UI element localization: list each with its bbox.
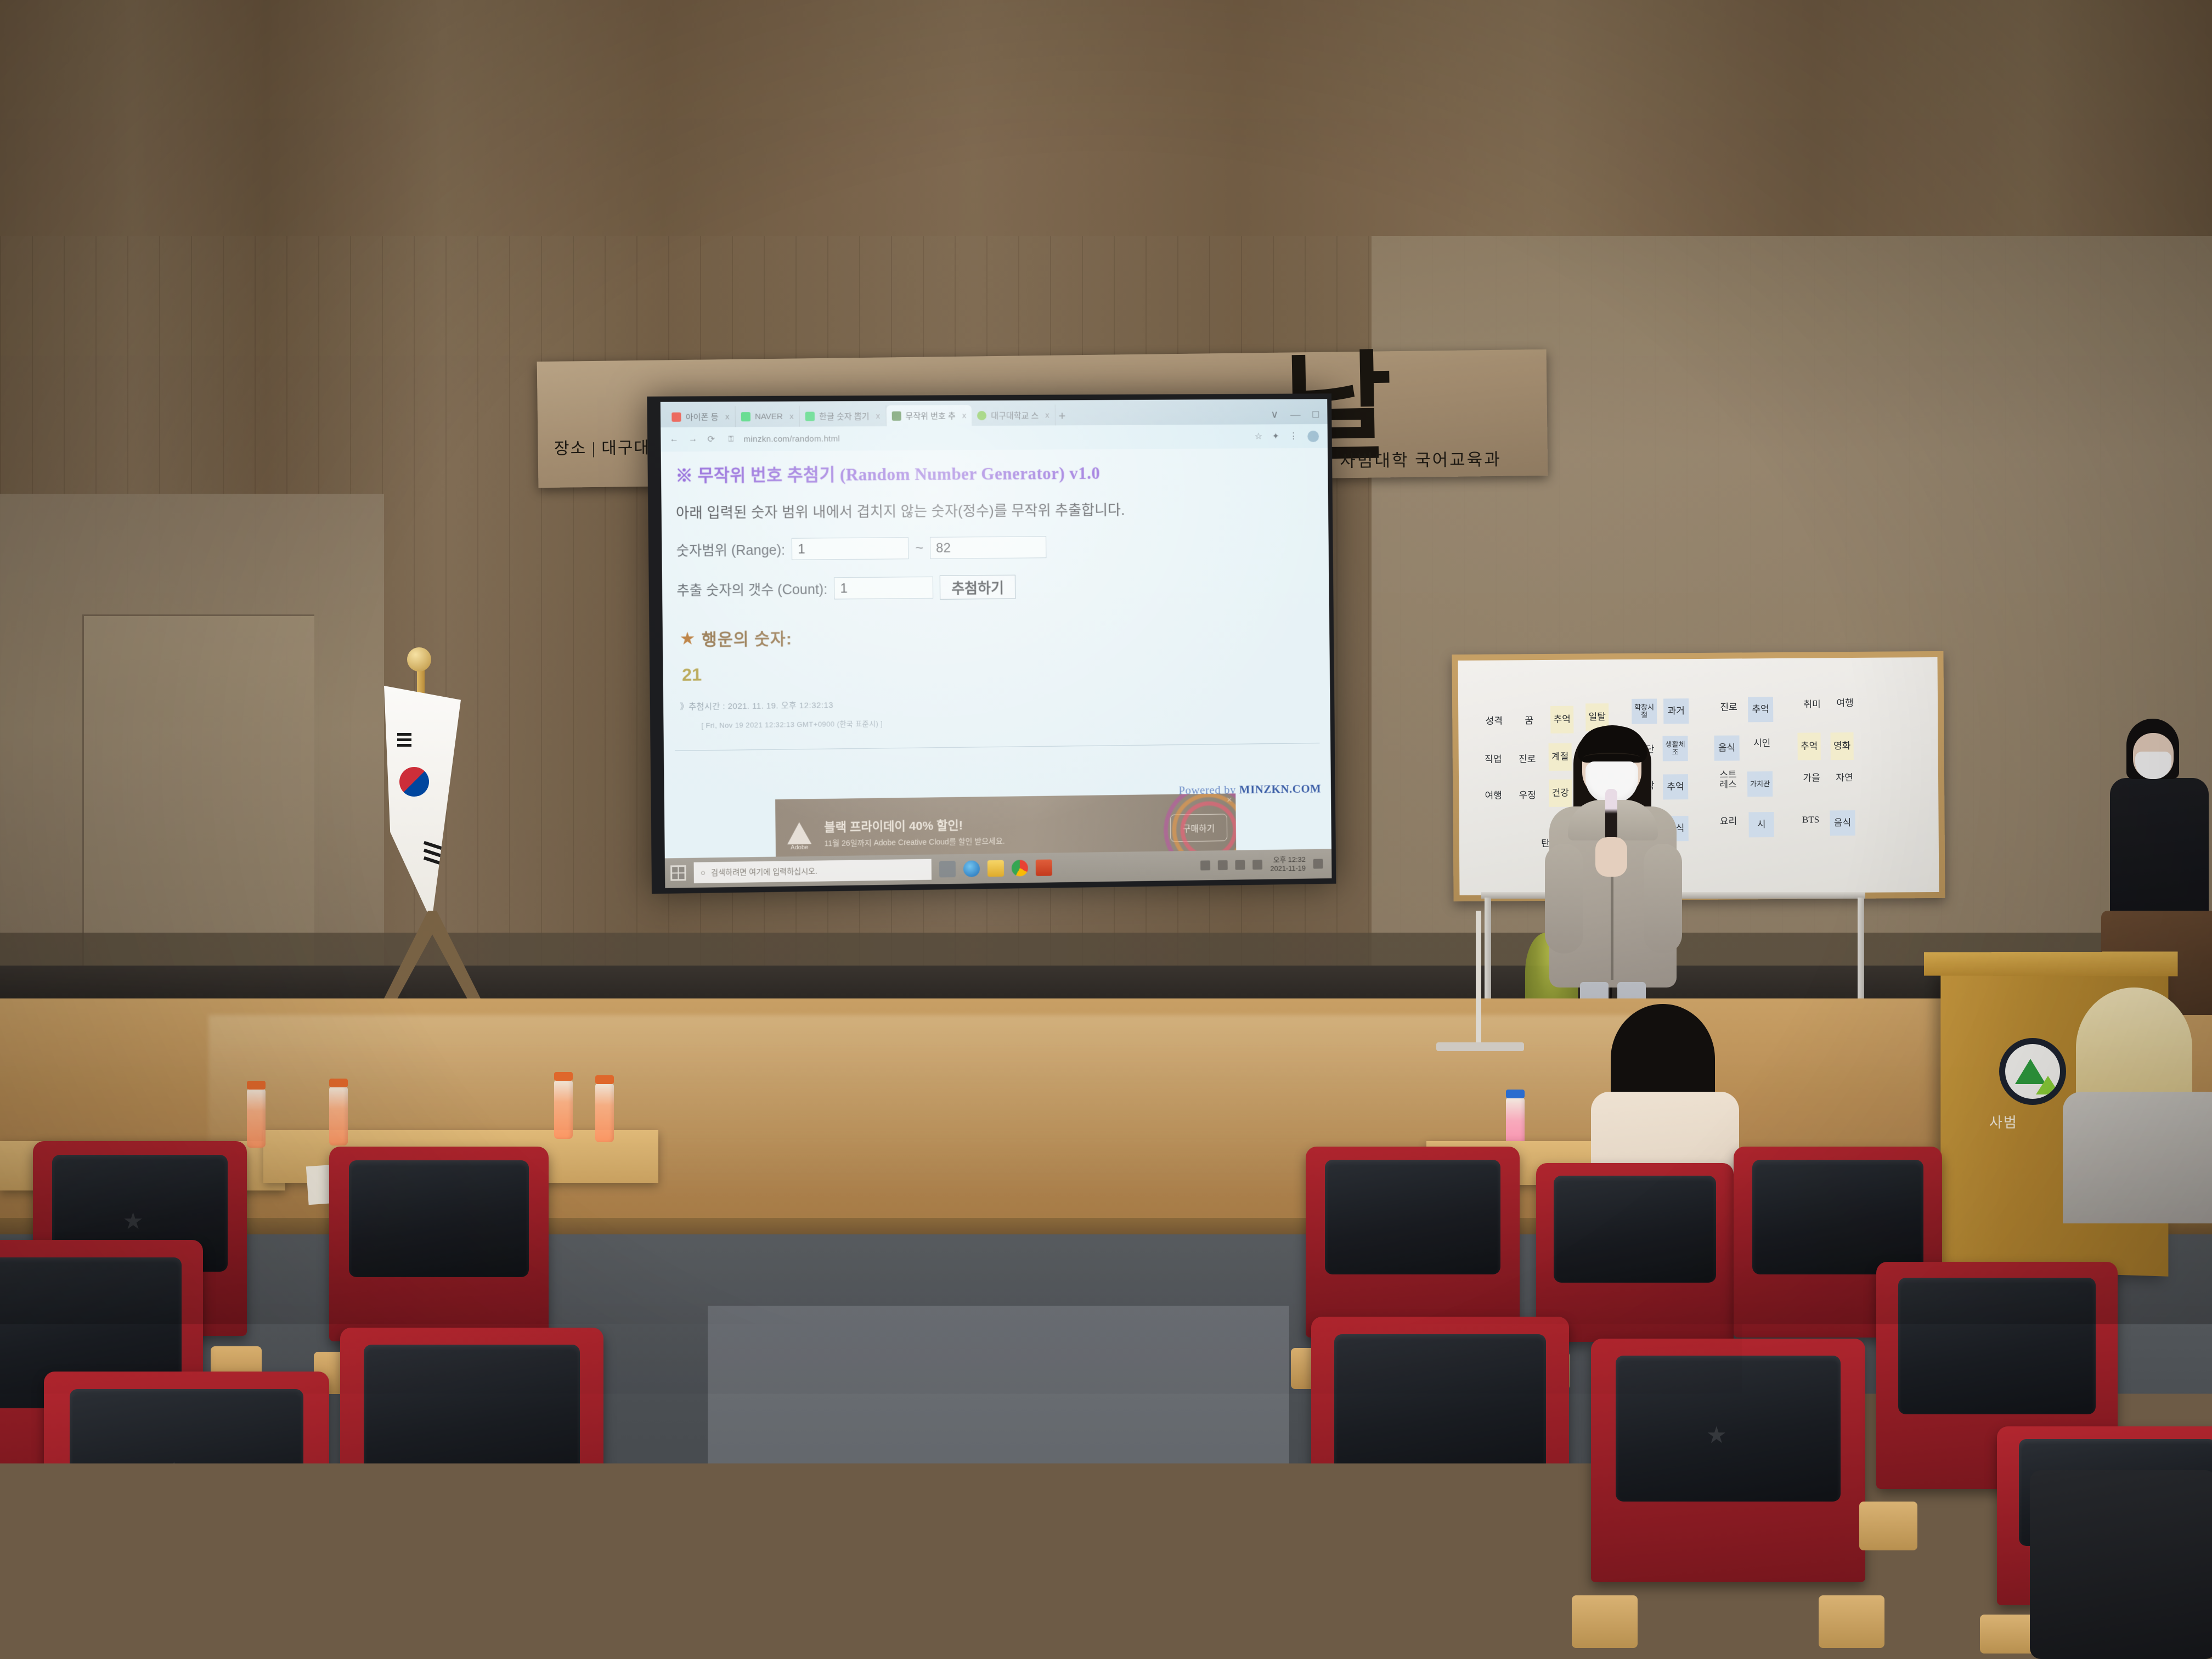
- taskbar-clock[interactable]: 오후 12:32 2021-11-19: [1270, 855, 1306, 873]
- whiteboard-sticky-note: 자연: [1831, 770, 1858, 786]
- new-tab-button[interactable]: +: [1055, 409, 1070, 425]
- aisle-carpet: [708, 1306, 1289, 1659]
- web-page-content: ※ 무작위 번호 추첨기 (Random Number Generator) v…: [661, 448, 1332, 888]
- tab-title: 대구대학교 스: [991, 409, 1039, 421]
- browser-tab[interactable]: NAVER x: [735, 406, 800, 427]
- powerpoint-icon[interactable]: [1036, 860, 1052, 876]
- maximize-icon[interactable]: □: [1312, 409, 1319, 421]
- whiteboard-sticky-note: 스트레스: [1714, 771, 1742, 788]
- network-icon[interactable]: [1218, 860, 1228, 870]
- auditorium-seat[interactable]: [340, 1328, 603, 1657]
- whiteboard-sticky-note: 음식: [1830, 810, 1855, 836]
- range-tilde: ~: [915, 540, 923, 556]
- reload-icon[interactable]: ⟳: [707, 434, 715, 445]
- whiteboard-surface: 성격꿈추억일탈학창시절과거진로추억취미여행직업진로계절친구발단생활체조음식시인추…: [1458, 657, 1939, 895]
- avatar[interactable]: [1307, 430, 1319, 442]
- volume-icon[interactable]: [1235, 860, 1245, 870]
- draw-button[interactable]: 추첨하기: [940, 575, 1015, 600]
- browser-tab[interactable]: 대구대학교 스 x: [972, 404, 1056, 426]
- auditorium-photo: 날 장소 | 대구대학 ㄴ 사범대학 국어교육과 아이폰 등 x: [0, 0, 2212, 1659]
- powered-brand: MINZKN.COM: [1239, 782, 1322, 796]
- adobe-brand: Adobe: [791, 844, 808, 851]
- tab-favicon-icon: [672, 412, 681, 421]
- browser-address-bar[interactable]: ← → ⟳ ⚿ minzkn.com/random.html ☆ ✦ ⋮: [661, 424, 1328, 452]
- range-max-input[interactable]: 82: [930, 536, 1046, 559]
- drink-bottle: [247, 1088, 266, 1148]
- ad-headline: 블랙 프라이데이 40% 할인!: [824, 813, 1160, 835]
- projection-screen: 아이폰 등 x NAVER x 한글 숫자 뽑기 x 무작위 번호 추 x: [647, 393, 1336, 894]
- whiteboard-sticky-note: 가치관: [1747, 771, 1773, 797]
- result-timestamp-kr: 》추첨시간 : 2021. 11. 19. 오후 12:32:13: [680, 693, 1330, 712]
- action-center-icon[interactable]: [1313, 859, 1323, 868]
- whiteboard-sticky-note: 여행: [1831, 695, 1859, 712]
- task-view-icon[interactable]: [939, 861, 956, 877]
- address-bar-actions[interactable]: ☆ ✦ ⋮: [1255, 430, 1319, 442]
- flag-finial: [407, 647, 431, 672]
- tab-favicon-icon: [891, 411, 901, 420]
- google-chrome-icon[interactable]: [1012, 860, 1028, 876]
- close-tab-icon[interactable]: x: [876, 411, 881, 420]
- presenter-hands: [1595, 837, 1627, 877]
- start-button[interactable]: [670, 865, 686, 881]
- minimize-icon[interactable]: —: [1290, 409, 1301, 421]
- internet-explorer-icon[interactable]: [963, 860, 980, 877]
- taskbar-search-input[interactable]: ○ 검색하려면 여기에 입력하십시오.: [694, 859, 932, 883]
- mic-stand: [1476, 911, 1481, 1048]
- whiteboard-sticky-note: 취미: [1798, 696, 1826, 713]
- drink-bottle: [595, 1083, 614, 1142]
- projection-surface: 아이폰 등 x NAVER x 한글 숫자 뽑기 x 무작위 번호 추 x: [661, 399, 1332, 888]
- divider: [675, 743, 1319, 751]
- drink-bottle: [554, 1080, 573, 1139]
- drink-bottle: [329, 1086, 348, 1145]
- count-label: 추출 숫자의 갯수 (Count):: [676, 578, 827, 600]
- whiteboard-sticky-note: 우정: [1514, 787, 1541, 804]
- system-tray[interactable]: 오후 12:32 2021-11-19: [1200, 855, 1326, 874]
- page-title: ※ 무작위 번호 추첨기 (Random Number Generator) v…: [675, 458, 1328, 486]
- tab-search-icon[interactable]: ∨: [1271, 409, 1278, 421]
- audience-person: [2063, 988, 2212, 1218]
- browser-tab[interactable]: 아이폰 등 x: [666, 406, 736, 427]
- range-min-input[interactable]: 1: [792, 537, 909, 560]
- whiteboard-sticky-note: 요리: [1714, 813, 1742, 830]
- whiteboard-sticky-note: 영화: [1830, 732, 1853, 760]
- podium-top: [1924, 951, 2178, 976]
- show-hidden-icons[interactable]: [1201, 860, 1211, 870]
- lock-icon: ⚿: [728, 435, 733, 443]
- page-description: 아래 입력된 숫자 범위 내에서 겹치지 않는 숫자(정수)를 무작위 추출합니…: [676, 498, 1328, 522]
- whiteboard-sticky-note: 과거: [1663, 698, 1689, 724]
- whiteboard: 성격꿈추억일탈학창시절과거진로추억취미여행직업진로계절친구발단생활체조음식시인추…: [1452, 651, 1945, 901]
- wall-lower-band: [0, 933, 2212, 967]
- mic-stand-base: [1436, 1042, 1524, 1051]
- tab-favicon-icon: [977, 411, 986, 420]
- whiteboard-sticky-note: 진로: [1514, 751, 1541, 768]
- range-row: 숫자범위 (Range): 1 ~ 82: [676, 534, 1329, 561]
- whiteboard-sticky-note: 직업: [1480, 751, 1507, 768]
- tab-title: 아이폰 등: [686, 411, 719, 422]
- tab-title: 무작위 번호 추: [905, 410, 956, 421]
- forward-icon[interactable]: →: [689, 435, 697, 444]
- window-controls[interactable]: ∨ — □: [1271, 408, 1327, 424]
- count-row: 추출 숫자의 갯수 (Count): 1 추첨하기: [676, 572, 1329, 602]
- wall-door-left[interactable]: [82, 614, 314, 967]
- close-tab-icon[interactable]: x: [725, 412, 730, 421]
- close-tab-icon[interactable]: x: [789, 411, 794, 421]
- extensions-icon[interactable]: ✦: [1272, 431, 1279, 442]
- browser-tab-strip[interactable]: 아이폰 등 x NAVER x 한글 숫자 뽑기 x 무작위 번호 추 x: [661, 399, 1328, 427]
- whiteboard-sticky-note: 추억: [1748, 697, 1773, 722]
- whiteboard-sticky-note: 추억: [1797, 732, 1820, 760]
- file-explorer-icon[interactable]: [988, 860, 1004, 877]
- result-heading: ★ 행운의 숫자:: [680, 620, 1329, 650]
- result-timestamp-en: [ Fri, Nov 19 2021 12:32:13 GMT+0900 (한국…: [701, 713, 1330, 730]
- search-placeholder: 검색하려면 여기에 입력하십시오.: [711, 866, 817, 878]
- whiteboard-sticky-note: 여행: [1480, 787, 1507, 804]
- range-label: 숫자범위 (Range):: [676, 539, 786, 560]
- whiteboard-sticky-note: 시인: [1748, 735, 1775, 752]
- tab-title: 한글 숫자 뽑기: [819, 410, 870, 422]
- tab-favicon-icon: [741, 412, 751, 421]
- url-text[interactable]: minzkn.com/random.html: [743, 434, 840, 444]
- university-emblem-icon: [1999, 1038, 2066, 1105]
- browser-tab-active[interactable]: 무작위 번호 추 x: [886, 405, 972, 426]
- close-tab-icon[interactable]: x: [962, 411, 967, 420]
- auditorium-seat[interactable]: ★: [44, 1372, 329, 1659]
- back-icon[interactable]: ←: [670, 435, 679, 444]
- star-icon: ★: [680, 629, 695, 647]
- backpack: [2030, 1470, 2212, 1659]
- result-value: 21: [682, 658, 1330, 685]
- ad-subline: 11월 26일까지 Adobe Creative Cloud를 할인 받으세요.: [824, 833, 1160, 848]
- count-input[interactable]: 1: [834, 577, 933, 600]
- banner-department-text: ㄴ 사범대학 국어교육과: [1317, 444, 1668, 472]
- bookmark-star-icon[interactable]: ☆: [1255, 431, 1262, 442]
- browser-tab[interactable]: 한글 숫자 뽑기 x: [800, 405, 887, 427]
- result-label: 행운의 숫자:: [702, 625, 792, 650]
- clock-date: 2021-11-19: [1270, 864, 1306, 873]
- battery-icon[interactable]: [1253, 860, 1263, 870]
- whiteboard-sticky-note: BTS: [1797, 811, 1824, 828]
- auditorium-seat[interactable]: ★: [1591, 1339, 1865, 1659]
- whiteboard-sticky-note: 학창시절: [1632, 699, 1657, 724]
- close-tab-icon[interactable]: x: [1045, 410, 1049, 420]
- ad-copy: 블랙 프라이데이 40% 할인! 11월 26일까지 Adobe Creativ…: [824, 813, 1160, 849]
- menu-icon[interactable]: ⋮: [1289, 431, 1298, 442]
- adobe-logo-icon: Adobe: [784, 815, 814, 851]
- whiteboard-sticky-note: 가을: [1798, 770, 1825, 786]
- whiteboard-sticky-note: 꿈: [1515, 713, 1543, 729]
- tab-title: NAVER: [755, 411, 783, 421]
- clock-time: 오후 12:32: [1270, 855, 1306, 865]
- tab-favicon-icon: [805, 411, 815, 421]
- close-ad-icon[interactable]: ✕: [1227, 795, 1233, 804]
- windows-taskbar[interactable]: ○ 검색하려면 여기에 입력하십시오. 오후 12:32: [665, 849, 1332, 888]
- search-icon: ○: [701, 868, 706, 877]
- auditorium-seat[interactable]: [1311, 1317, 1569, 1657]
- whiteboard-sticky-note: 음식: [1714, 735, 1739, 760]
- whiteboard-sticky-note: 시: [1748, 812, 1774, 837]
- whiteboard-sticky-note: 성격: [1480, 713, 1508, 729]
- whiteboard-sticky-note: 진로: [1715, 699, 1742, 715]
